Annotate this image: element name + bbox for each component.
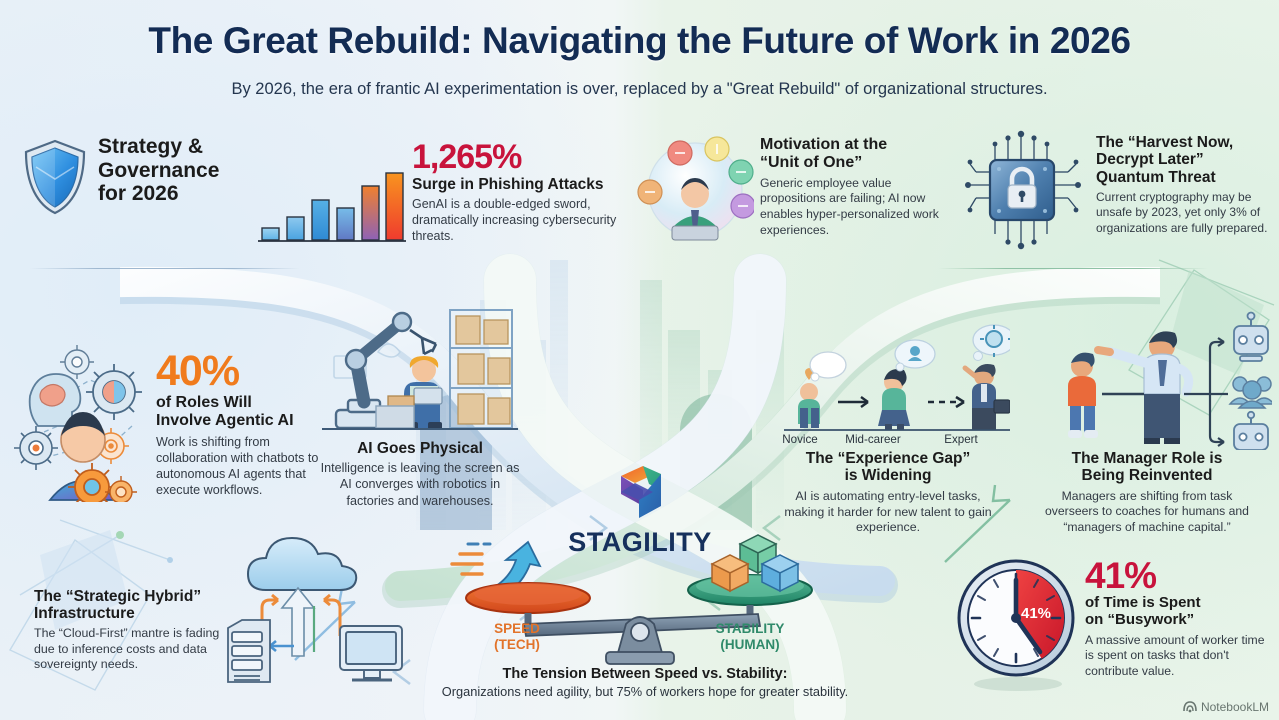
agentic-body: Work is shifting from collaboration with… [156, 434, 334, 498]
motivation-heading-line1: Motivation at the [760, 136, 955, 154]
expgap-body: AI is automating entry-level tasks, maki… [782, 489, 994, 537]
section-manager-role: The Manager Role is Being Reinvented Man… [1035, 450, 1259, 536]
page-title: The Great Rebuild: Navigating the Future… [0, 20, 1279, 62]
section-phishing: 1,265% Surge in Phishing Attacks GenAI i… [412, 140, 617, 244]
quantum-body: Current cryptography may be unsafe by 20… [1096, 190, 1274, 236]
tension-caption-title: The Tension Between Speed vs. Stability: [410, 666, 880, 682]
quantum-heading-line2: Decrypt Later” [1096, 151, 1274, 168]
section-strategy-governance: Strategy & Governance for 2026 [20, 135, 320, 206]
section-ai-goes-physical: AI Goes Physical Intelligence is leaving… [320, 440, 520, 509]
watermark-label: NotebookLM [1201, 700, 1269, 714]
physical-heading: AI Goes Physical [320, 440, 520, 457]
strategy-heading-line1: Strategy & [98, 135, 320, 159]
section-busywork: 41% of Time is Spent on “Busywork” A mas… [1085, 557, 1267, 679]
agentic-stat: 40% [156, 350, 334, 393]
hybrid-heading-line2: Infrastructure [34, 605, 226, 622]
expgap-heading-line1: The “Experience Gap” [782, 450, 994, 467]
section-quantum: The “Harvest Now, Decrypt Later” Quantum… [1096, 134, 1274, 236]
quantum-heading-line1: The “Harvest Now, [1096, 134, 1274, 151]
quantum-heading-line3: Quantum Threat [1096, 169, 1274, 186]
section-motivation: Motivation at the “Unit of One” Generic … [760, 136, 955, 238]
stability-label-line1: STABILITY [700, 621, 800, 637]
busywork-heading-line2: on “Busywork” [1085, 612, 1267, 629]
busywork-stat: 41% [1085, 557, 1267, 594]
notebooklm-icon [1183, 700, 1197, 714]
phishing-body: GenAI is a double-edged sword, dramatica… [412, 196, 617, 244]
section-agentic-ai: 40% of Roles Will Involve Agentic AI Wor… [156, 350, 334, 498]
stage-label-expert: Expert [932, 433, 990, 446]
speed-label-line1: SPEED [472, 621, 562, 637]
tension-caption: The Tension Between Speed vs. Stability:… [410, 666, 880, 699]
stagility-brand: STAGILITY [540, 462, 740, 558]
strategy-heading-line2: Governance [98, 159, 320, 183]
hybrid-body: The “Cloud-First” mantre is fading due t… [34, 626, 226, 674]
stagility-s-logo [609, 462, 671, 524]
scale-label-stability: STABILITY (HUMAN) [700, 621, 800, 652]
manager-heading-line1: The Manager Role is [1035, 450, 1259, 467]
tension-caption-body: Organizations need agility, but 75% of w… [410, 684, 880, 699]
watermark: NotebookLM [1183, 700, 1269, 714]
hybrid-heading-line1: The “Strategic Hybrid” [34, 588, 226, 605]
section-strategic-hybrid: The “Strategic Hybrid” Infrastructure Th… [34, 588, 226, 673]
phishing-heading: Surge in Phishing Attacks [412, 176, 617, 193]
manager-heading-line2: Being Reinvented [1035, 467, 1259, 484]
manager-body: Managers are shifting from task overseer… [1035, 489, 1259, 536]
agentic-heading-line1: of Roles Will [156, 394, 334, 412]
stability-label-line2: (HUMAN) [700, 637, 800, 653]
stagility-wordmark: STAGILITY [540, 527, 740, 558]
physical-body: Intelligence is leaving the screen as AI… [320, 460, 520, 508]
page-subtitle: By 2026, the era of frantic AI experimen… [0, 80, 1279, 99]
busywork-heading-line1: of Time is Spent [1085, 595, 1267, 612]
divider-right [938, 268, 1208, 269]
motivation-body: Generic employee value propositions are … [760, 176, 955, 238]
motivation-heading-line2: “Unit of One” [760, 154, 955, 172]
speed-label-line2: (TECH) [472, 637, 562, 653]
stage-label-novice: Novice [770, 433, 830, 446]
phishing-stat: 1,265% [412, 140, 617, 174]
divider-left [30, 268, 300, 269]
expgap-heading-line2: is Widening [782, 467, 994, 484]
stage-label-midcareer: Mid-career [838, 433, 908, 446]
section-experience-gap: The “Experience Gap” is Widening AI is a… [782, 450, 994, 536]
busywork-body: A massive amount of worker time is spent… [1085, 633, 1267, 680]
scale-label-speed: SPEED (TECH) [472, 621, 562, 652]
strategy-heading-line3: for 2026 [98, 182, 320, 206]
agentic-heading-line2: Involve Agentic AI [156, 412, 334, 430]
infographic-canvas: The Great Rebuild: Navigating the Future… [0, 0, 1279, 720]
